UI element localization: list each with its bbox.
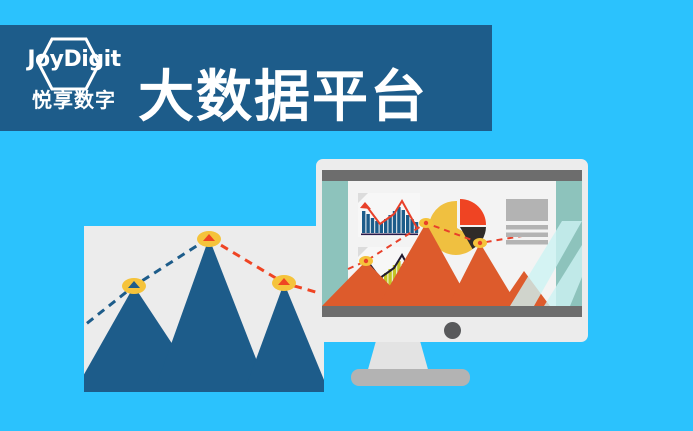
desktop-monitor bbox=[316, 159, 588, 342]
monitor-top-bezel bbox=[322, 170, 582, 181]
mini-bar-chart-blue[interactable] bbox=[358, 193, 420, 237]
header-banner: JoyDigit 悦享数字 大数据平台 bbox=[0, 25, 492, 131]
monitor-bottom-bezel bbox=[322, 306, 582, 317]
mountain-trend-panel bbox=[84, 226, 324, 392]
logo-wordmark: JoyDigit bbox=[14, 49, 134, 71]
illustration-stage: JoyDigit 悦享数字 大数据平台 bbox=[0, 0, 693, 431]
monitor-stand-base bbox=[351, 369, 470, 386]
page-title: 大数据平台 bbox=[138, 69, 428, 125]
mountain-shapes bbox=[84, 238, 324, 392]
logo-subtitle: 悦享数字 bbox=[14, 91, 134, 111]
brand-logo: JoyDigit 悦享数字 bbox=[14, 33, 134, 125]
monitor-screen bbox=[322, 181, 582, 306]
monitor-power-indicator bbox=[444, 322, 461, 339]
